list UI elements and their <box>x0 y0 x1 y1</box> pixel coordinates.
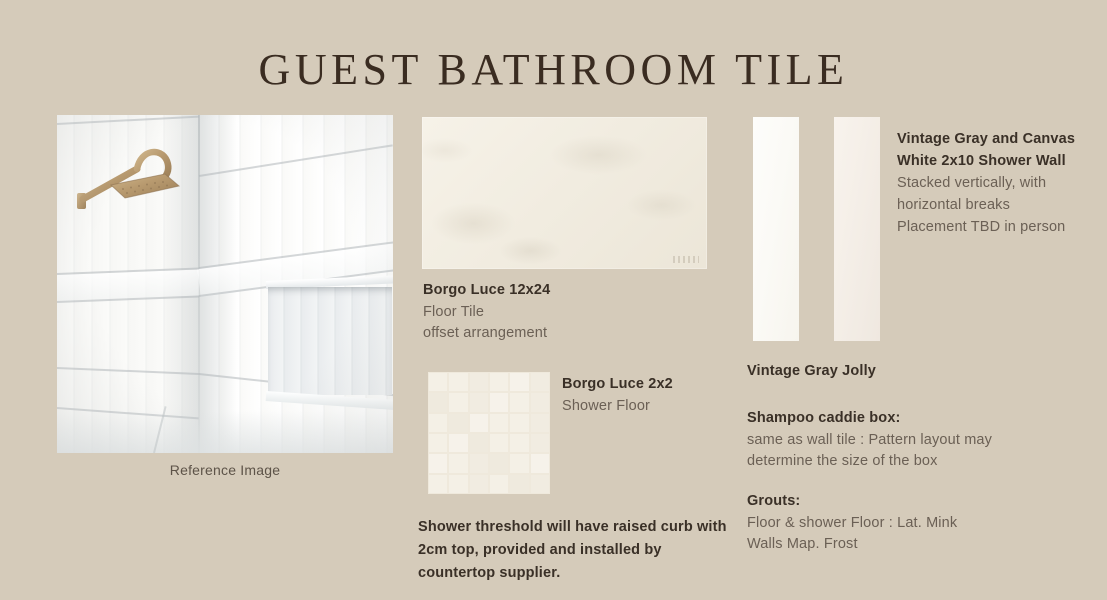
mosaic-tile <box>490 393 508 411</box>
page-title: GUEST BATHROOM TILE <box>0 48 1107 92</box>
mosaic-tile <box>470 373 488 391</box>
mosaic-tile <box>510 475 528 493</box>
mosaic-tile <box>429 373 447 391</box>
borgo-luce-2x2-mosaic-swatch <box>428 372 550 494</box>
grouts-heading: Grouts: <box>747 491 1047 513</box>
mosaic-tile <box>490 434 508 452</box>
floor-tile-usage: Floor Tile <box>423 302 713 324</box>
mosaic-tile <box>449 434 467 452</box>
mosaic-tile <box>510 434 528 452</box>
mosaic-tile <box>490 454 508 472</box>
vintage-gray-2x10-swatch <box>834 117 880 341</box>
mosaic-tile <box>429 414 447 432</box>
grouts-note: Grouts: Floor & shower Floor : Lat. Mink… <box>747 491 1047 556</box>
mosaic-tile <box>429 454 447 472</box>
mosaic-tile <box>449 454 467 472</box>
grout-floor: Floor & shower Floor : Lat. Mink <box>747 513 1047 535</box>
canvas-white-2x10-swatch <box>753 117 799 341</box>
shower-wall-note: Vintage Gray and Canvas White 2x10 Showe… <box>897 128 1082 238</box>
mosaic-tile <box>531 454 549 472</box>
borgo-luce-12x24-swatch <box>422 117 707 269</box>
mosaic-tile <box>510 454 528 472</box>
mosaic-tile <box>449 393 467 411</box>
vintage-gray-jolly-label: Vintage Gray Jolly <box>747 361 1047 383</box>
caddie-heading: Shampoo caddie box: <box>747 408 1047 430</box>
mosaic-tile <box>531 475 549 493</box>
shower-photo <box>57 115 393 453</box>
tile-selection-board: GUEST BATHROOM TILE <box>0 0 1107 600</box>
borgo-luce-12x24-label: Borgo Luce 12x24 Floor Tile offset arran… <box>423 280 713 345</box>
mosaic-tile <box>470 454 488 472</box>
shower-niche <box>268 287 392 395</box>
mosaic-tile <box>531 414 549 432</box>
mosaic-tile <box>470 434 488 452</box>
shampoo-caddie-note: Shampoo caddie box: same as wall tile : … <box>747 408 1047 473</box>
mosaic-tile <box>490 475 508 493</box>
mosaic-tile <box>490 373 508 391</box>
wall-tile-heading: Vintage Gray and Canvas White 2x10 Showe… <box>897 128 1082 172</box>
mosaic-tile <box>531 434 549 452</box>
shower-floor-area <box>57 411 393 453</box>
mosaic-tile <box>510 414 528 432</box>
mosaic-tile <box>510 393 528 411</box>
caddie-body: same as wall tile : Pattern layout may d… <box>747 430 1047 473</box>
wall-tile-body: Stacked vertically, with horizontal brea… <box>897 172 1082 216</box>
mosaic-tile <box>449 414 467 432</box>
shower-head-icon <box>75 143 195 223</box>
mosaic-tile <box>531 393 549 411</box>
reference-image-caption: Reference Image <box>57 462 393 478</box>
floor-tile-name: Borgo Luce 12x24 <box>423 280 713 302</box>
grout-walls: Walls Map. Frost <box>747 534 1047 556</box>
mosaic-tile <box>490 414 508 432</box>
mosaic-tile <box>510 373 528 391</box>
shower-threshold-note: Shower threshold will have raised curb w… <box>418 516 738 585</box>
mosaic-tile <box>429 393 447 411</box>
mosaic-tile <box>449 475 467 493</box>
reference-image <box>57 115 393 453</box>
floor-tile-arrangement: offset arrangement <box>423 323 713 345</box>
mosaic-tile <box>449 373 467 391</box>
mosaic-tile <box>429 475 447 493</box>
mosaic-tile <box>531 373 549 391</box>
mosaic-tile <box>470 475 488 493</box>
mosaic-tile <box>470 393 488 411</box>
wall-tile-placement: Placement TBD in person <box>897 216 1082 238</box>
mosaic-tile <box>429 434 447 452</box>
mosaic-tile <box>470 414 488 432</box>
